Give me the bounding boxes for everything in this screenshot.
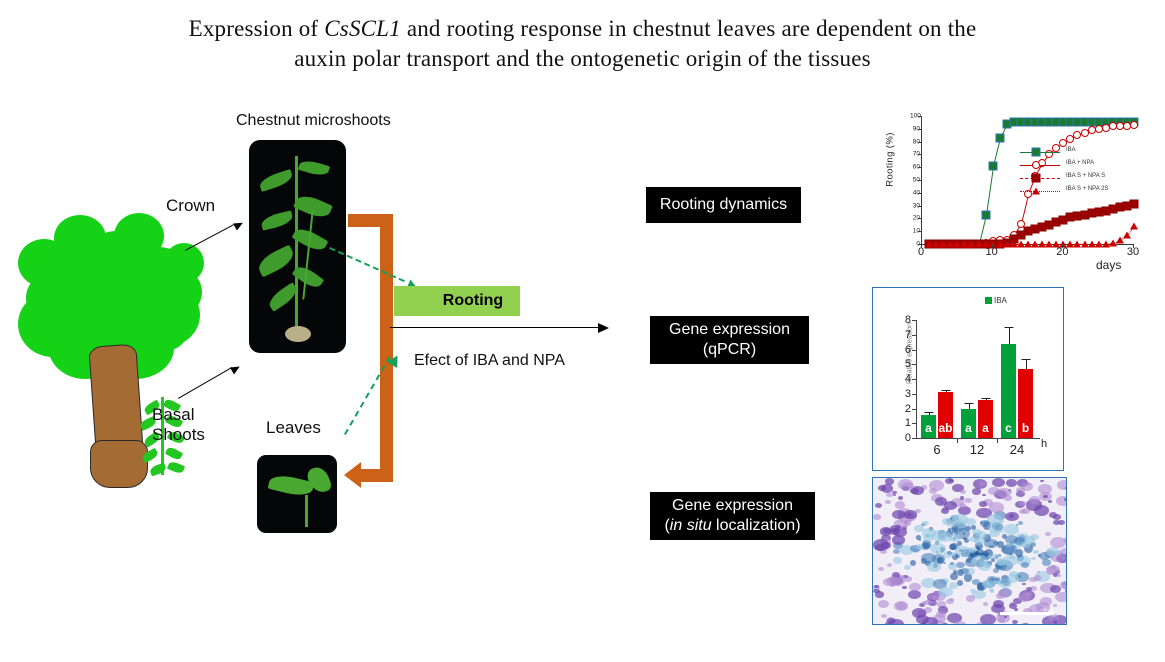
- micrograph-signal-dot: [953, 570, 957, 574]
- micrograph-tissue-blob: [952, 514, 967, 525]
- legend-swatch-iba: [985, 297, 992, 304]
- micrograph-tissue-blob: [1058, 574, 1062, 577]
- micrograph-tissue-blob: [873, 589, 880, 594]
- micrograph-tissue-blob: [916, 544, 924, 549]
- chart1-legend-item: IBA + NPA: [1020, 159, 1140, 172]
- micrograph-tissue-blob: [914, 525, 924, 532]
- chart1-data-point: [1123, 232, 1131, 239]
- chart2-plot-area: aabaacb: [917, 320, 1037, 438]
- chart1-data-point: [1032, 174, 1041, 183]
- micrograph-tissue-blob: [1066, 516, 1067, 519]
- micrograph-tissue-blob: [960, 490, 966, 494]
- micrograph-tissue-blob: [893, 549, 900, 554]
- micrograph-tissue-blob: [983, 602, 989, 606]
- sprig-leaf: [149, 463, 167, 477]
- in-situ-italic: in situ: [670, 517, 712, 534]
- chart1-data-point: [1130, 200, 1139, 209]
- micrograph-tissue-blob: [1038, 484, 1052, 494]
- micrograph-tissue-blob: [1062, 582, 1067, 586]
- micrograph-tissue-blob: [1045, 532, 1050, 536]
- micrograph-tissue-blob: [1024, 592, 1032, 597]
- micrograph-tissue-blob: [873, 539, 889, 550]
- chart1-legend-item: IBA: [1020, 146, 1140, 159]
- chart1-line-segment: [986, 166, 994, 215]
- micrograph-tissue-blob: [873, 514, 881, 519]
- micrograph-tissue-blob: [1065, 487, 1067, 489]
- chart2-bar: a: [921, 415, 936, 438]
- micrograph-tissue-blob: [878, 600, 889, 608]
- chart2-y-tick-label: 2: [899, 403, 911, 415]
- chart2-bar: a: [961, 409, 976, 438]
- micrograph-tissue-blob: [943, 562, 946, 564]
- chart2-group-separator: [957, 438, 958, 443]
- effect-caption: Efect of IBA and NPA: [414, 352, 565, 371]
- micrograph-tissue-blob: [898, 496, 903, 500]
- sprig-leaf: [167, 460, 185, 474]
- scale-bar-label: 100 µm: [1041, 607, 1054, 612]
- micrograph-tissue-blob: [972, 488, 982, 495]
- chart1-legend-label: IBA S + NPA 2S: [1066, 186, 1108, 192]
- chestnut-leaf-photo: [257, 455, 337, 533]
- chart2-x-tick-label: 12: [970, 442, 984, 457]
- rooting-badge-label: Rooting: [394, 286, 520, 316]
- micrograph-tissue-blob: [941, 623, 949, 625]
- micrograph-tissue-blob: [878, 567, 884, 571]
- chart2-group-separator: [997, 438, 998, 443]
- chart1-legend-item: IBA S + NPA 2S: [1020, 185, 1140, 198]
- rooting-badge: Rooting: [394, 286, 520, 316]
- basal-shoots-label: Basal Shoots: [152, 405, 205, 445]
- micrograph-tissue-blob: [895, 525, 901, 529]
- micrograph-tissue-blob: [927, 562, 942, 572]
- in-situ-post: localization): [712, 517, 801, 534]
- micrograph-tissue-blob: [988, 487, 1000, 495]
- panel-label-in-situ: Gene expression (in situ localization): [650, 492, 815, 540]
- chart2-y-tick-mark: [912, 379, 916, 380]
- canopy-blob: [114, 213, 164, 259]
- chart1-legend-label: IBA: [1066, 147, 1076, 153]
- chart1-y-tick-mark: [918, 180, 922, 181]
- chart2-y-tick-label: 4: [899, 373, 911, 385]
- micrograph-tissue-blob: [895, 501, 905, 508]
- in-situ-micrograph: 100 µm: [872, 477, 1067, 625]
- micrograph-tissue-blob: [923, 534, 934, 542]
- chart2-x-tick-label: 24: [1010, 442, 1024, 457]
- chart2-legend: IBA: [985, 296, 1007, 305]
- chart2-bar-letter: ab: [938, 421, 953, 435]
- micrograph-tissue-blob: [1009, 603, 1017, 609]
- chart2-bar-letter: a: [978, 421, 993, 435]
- chart2-y-tick-label: 7: [899, 329, 911, 341]
- basal-shoots-label-line2: Shoots: [152, 425, 205, 444]
- micrograph-tissue-blob: [1031, 557, 1036, 560]
- chart1-legend: IBAIBA + NPAIBA S + NPA SIBA S + NPA 2S: [1020, 146, 1140, 198]
- micrograph-tissue-blob: [899, 575, 905, 579]
- micrograph-tissue-blob: [901, 482, 914, 491]
- micrograph-tissue-blob: [1040, 597, 1053, 606]
- chart1-data-point: [1032, 161, 1040, 169]
- micrograph-tissue-blob: [924, 600, 931, 605]
- micrograph-tissue-blob: [904, 565, 911, 570]
- micrograph-tissue-blob: [955, 546, 971, 557]
- chart2-y-tick-mark: [912, 409, 916, 410]
- legend-label-iba: IBA: [994, 296, 1007, 305]
- chart1-y-tick-mark: [918, 231, 922, 232]
- micrograph-tissue-blob: [1009, 490, 1012, 492]
- micrograph-tissue-blob: [887, 624, 893, 625]
- micrograph-tissue-blob: [1034, 505, 1049, 516]
- chart1-data-point: [995, 133, 1004, 142]
- chart2-y-tick-label: 6: [899, 344, 911, 356]
- chart2-y-tick-label: 3: [899, 388, 911, 400]
- panel-label-line1: Gene expression: [672, 497, 793, 514]
- chart2-bar: c: [1001, 344, 1016, 438]
- micrograph-tissue-blob: [990, 590, 994, 593]
- micrograph-tissue-blob: [1012, 620, 1018, 624]
- canopy-blob: [18, 239, 70, 287]
- micrograph-tissue-blob: [1006, 542, 1009, 544]
- chart1-x-tick-mark: [992, 244, 993, 248]
- chart2-error-cap: [941, 390, 950, 391]
- chart2-x-axis: [916, 438, 1040, 439]
- panel-label-line1: Gene expression: [669, 321, 790, 338]
- chart2-error-cap: [981, 398, 990, 399]
- panel-label-qpcr: Gene expression (qPCR): [650, 316, 809, 364]
- micrograph-tissue-blob: [996, 593, 1004, 599]
- chart2-bar-letter: c: [1001, 421, 1016, 435]
- micrograph-tissue-blob: [902, 586, 907, 590]
- chestnut-tree-illustration: [18, 185, 268, 470]
- chart2-error-cap: [1021, 359, 1030, 360]
- chart1-legend-line: [1020, 165, 1060, 166]
- chart1-legend-line: [1020, 191, 1060, 192]
- canopy-blob: [164, 243, 204, 283]
- micrograph-tissue-blob: [887, 576, 901, 585]
- micrograph-tissue-blob: [1026, 587, 1032, 591]
- chart2-y-tick-label: 5: [899, 358, 911, 370]
- micrograph-tissue-blob: [952, 621, 967, 625]
- chart1-y-tick-mark: [918, 206, 922, 207]
- micrograph-tissue-blob: [887, 563, 892, 567]
- chart2-y-tick-label: 0: [899, 432, 911, 444]
- chart1-legend-item: IBA S + NPA S: [1020, 172, 1140, 185]
- chart1-x-tick-mark: [1133, 244, 1134, 248]
- panel-label-rooting-dynamics: Rooting dynamics: [646, 187, 801, 223]
- micrograph-tissue-blob: [922, 521, 929, 526]
- chart2-error-bar: [1026, 359, 1027, 369]
- micrograph-tissue-blob: [988, 522, 1004, 533]
- chart2-bar: ab: [938, 392, 953, 438]
- chart1-y-axis-label: Rooting (%): [885, 118, 896, 202]
- chart2-y-tick-mark: [912, 438, 916, 439]
- microshoots-label: Chestnut microshoots: [236, 112, 391, 131]
- micrograph-tissue-blob: [979, 501, 987, 506]
- micrograph-tissue-blob: [1006, 479, 1018, 487]
- chart2-x-axis-label: h: [1041, 438, 1047, 450]
- panel-label-text: Rooting dynamics: [660, 195, 787, 215]
- panel-label-line2: (qPCR): [703, 341, 756, 358]
- title-line-1: Expression of CsSCL1 and rooting respons…: [0, 14, 1165, 44]
- crown-label: Crown: [166, 196, 215, 216]
- micrograph-tissue-blob: [941, 508, 949, 514]
- micrograph-tissue-blob: [1030, 543, 1036, 547]
- chart1-data-point: [1130, 223, 1138, 230]
- chart2-error-cap: [924, 412, 933, 413]
- title-text-pre: Expression of: [189, 16, 325, 41]
- sprig-leaf: [165, 446, 183, 462]
- gene-name-italic: CsSCL1: [324, 16, 401, 41]
- micrograph-tissue-blob: [1022, 583, 1025, 585]
- chart1-y-tick-mark: [918, 116, 922, 117]
- micrograph-tissue-blob: [929, 480, 944, 491]
- micrograph-tissue-blob: [1061, 624, 1067, 625]
- micrograph-tissue-blob: [1009, 514, 1014, 518]
- micrograph-tissue-blob: [880, 527, 892, 535]
- micrograph-tissue-blob: [980, 614, 996, 625]
- chart1-y-tick-mark: [918, 129, 922, 130]
- chart1-data-point: [981, 210, 990, 219]
- micrograph-tissue-blob: [950, 562, 954, 565]
- micrograph-tissue-blob: [1033, 550, 1039, 554]
- chart2-y-tick-mark: [912, 320, 916, 321]
- micrograph-tissue-blob: [970, 550, 974, 553]
- micrograph-tissue-blob: [951, 552, 956, 555]
- chart1-data-point: [1130, 121, 1138, 129]
- chart2-y-tick-mark: [912, 423, 916, 424]
- chart1-legend-label: IBA S + NPA S: [1066, 173, 1105, 179]
- micrograph-tissue-blob: [1003, 555, 1018, 565]
- micrograph-tissue-blob: [1064, 498, 1067, 501]
- micrograph-tissue-blob: [1034, 575, 1042, 580]
- sprig-leaf: [141, 448, 159, 463]
- canopy-blob: [142, 309, 188, 351]
- micrograph-tissue-blob: [1053, 573, 1058, 577]
- micrograph-tissue-blob: [1019, 501, 1026, 506]
- chart1-y-tick-mark: [918, 154, 922, 155]
- micrograph-tissue-blob: [1021, 623, 1030, 625]
- chart2-y-tick-label: 1: [899, 417, 911, 429]
- micrograph-tissue-blob: [1042, 559, 1051, 565]
- micrograph-tissue-blob: [947, 522, 954, 527]
- chart2-y-tick-mark: [912, 364, 916, 365]
- micrograph-tissue-blob: [1055, 592, 1067, 602]
- qpcr-bar-chart: IBA Relative expression aabaacb h 012345…: [872, 287, 1064, 471]
- micrograph-tissue-blob: [889, 619, 904, 625]
- micrograph-tissue-blob: [885, 500, 890, 504]
- micrograph-tissue-blob: [1046, 547, 1060, 557]
- micrograph-tissue-blob: [893, 557, 902, 564]
- chestnut-microshoot-photo: [249, 140, 346, 353]
- micrograph-tissue-blob: [947, 551, 952, 555]
- micrograph-tissue-blob: [1053, 514, 1061, 520]
- title-line-2: auxin polar transport and the ontogeneti…: [0, 44, 1165, 74]
- chart1-y-tick-mark: [918, 167, 922, 168]
- micrograph-tissue-blob: [1021, 541, 1031, 548]
- micrograph-tissue-blob: [1040, 480, 1043, 482]
- micrograph-tissue-blob: [892, 535, 905, 544]
- chart2-error-cap: [1004, 327, 1013, 328]
- chart2-error-cap: [964, 403, 973, 404]
- micrograph-tissue-blob: [1053, 520, 1060, 525]
- chart2-y-tick-mark: [912, 335, 916, 336]
- scale-bar: [1000, 612, 1054, 615]
- micrograph-tissue-blob: [896, 602, 907, 610]
- micrograph-tissue-blob: [912, 608, 925, 617]
- micrograph-tissue-blob: [1021, 562, 1029, 568]
- micrograph-tissue-blob: [881, 484, 893, 492]
- micrograph-tissue-blob: [925, 623, 931, 625]
- micrograph-tissue-blob: [881, 614, 887, 618]
- chart1-legend-label: IBA + NPA: [1066, 160, 1094, 166]
- page-title: Expression of CsSCL1 and rooting respons…: [0, 14, 1165, 75]
- micrograph-tissue-blob: [885, 478, 894, 485]
- chart1-x-tick-mark: [1062, 244, 1063, 248]
- chart2-x-tick-label: 6: [933, 442, 940, 457]
- chart2-y-tick-mark: [912, 350, 916, 351]
- micrograph-tissue-blob: [908, 590, 921, 599]
- orange-feedback-arrow: [348, 214, 396, 494]
- micrograph-signal-dot: [910, 560, 916, 566]
- chart1-y-tick-mark: [918, 218, 922, 219]
- rooting-dynamics-chart: Rooting (%) days IBAIBA + NPAIBA S + NPA…: [874, 108, 1162, 276]
- chart1-data-point: [1032, 188, 1040, 195]
- leaves-label: Leaves: [266, 418, 321, 438]
- chart2-bar: b: [1018, 369, 1033, 438]
- micrograph-tissue-blob: [964, 498, 972, 504]
- micrograph-tissue-blob: [966, 595, 976, 602]
- micrograph-tissue-blob: [992, 478, 1005, 487]
- chart2-bar-letter: a: [961, 421, 976, 435]
- micrograph-tissue-blob: [998, 578, 1012, 588]
- chart1-y-tick-mark: [918, 193, 922, 194]
- title-text-post: and rooting response in chestnut leaves …: [401, 16, 977, 41]
- micrograph-tissue-blob: [875, 503, 882, 508]
- chart2-error-bar: [1009, 327, 1010, 344]
- micrograph-tissue-blob: [892, 491, 897, 495]
- chart1-data-point: [1032, 148, 1041, 157]
- chart1-y-tick-mark: [918, 142, 922, 143]
- chart2-bar: a: [978, 400, 993, 438]
- basal-shoots-label-line1: Basal: [152, 405, 195, 424]
- micrograph-tissue-blob: [892, 510, 905, 519]
- micrograph-tissue-blob: [938, 587, 952, 597]
- micrograph-tissue-blob: [1048, 614, 1058, 621]
- micrograph-tissue-blob: [982, 494, 985, 496]
- micrograph-tissue-blob: [984, 539, 998, 549]
- chart2-bar-letter: b: [1018, 421, 1033, 435]
- micrograph-tissue-blob: [1018, 521, 1024, 525]
- micrograph-tissue-blob: [1048, 500, 1052, 503]
- micrograph-tissue-blob: [1004, 495, 1011, 500]
- chart2-y-tick-label: 8: [899, 314, 911, 326]
- micrograph-tissue-blob: [972, 579, 980, 585]
- chart1-data-point: [988, 161, 997, 170]
- micrograph-signal-dot: [919, 539, 921, 541]
- micrograph-tissue-blob: [909, 583, 921, 592]
- micrograph-tissue-blob: [1043, 495, 1047, 498]
- micrograph-tissue-blob: [935, 497, 948, 506]
- chart1-x-axis-label: days: [1096, 258, 1121, 272]
- chart2-bar-letter: a: [921, 421, 936, 435]
- chart1-x-tick-mark: [921, 244, 922, 248]
- chart2-y-tick-mark: [912, 394, 916, 395]
